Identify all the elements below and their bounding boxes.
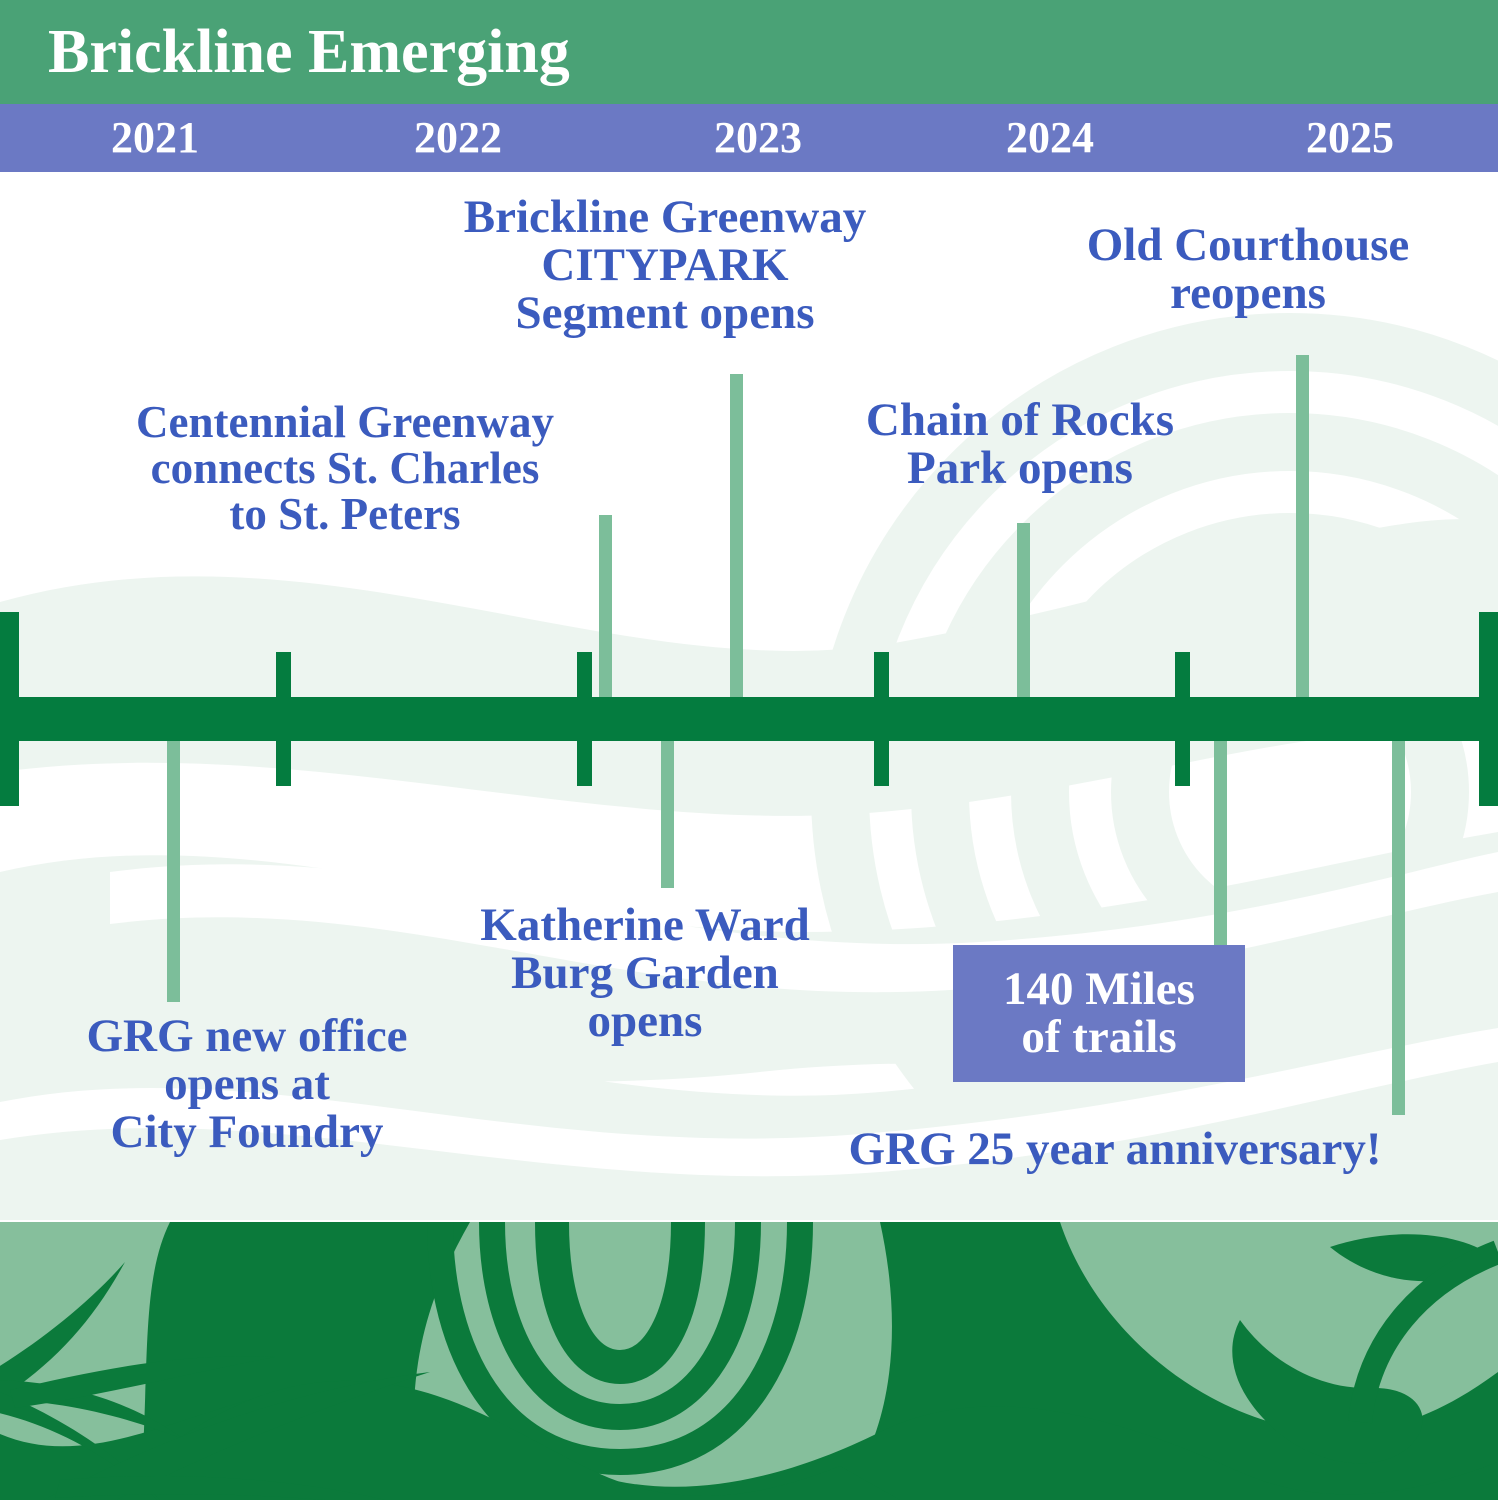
connector-brickline-citypark — [730, 374, 743, 700]
connector-grg-anniversary — [1392, 740, 1405, 1115]
event-line: Katherine Ward — [410, 902, 880, 950]
connector-grg-new-office — [167, 740, 180, 1002]
infographic-canvas: Brickline Emerging 2021 2022 2023 2024 2… — [0, 0, 1498, 1500]
connector-katherine-ward — [661, 740, 674, 888]
timeline-tick-2022 — [577, 652, 592, 786]
year-label-2023: 2023 — [658, 110, 858, 166]
event-line: GRG 25 year anniversary! — [770, 1126, 1460, 1174]
event-line: Segment opens — [370, 290, 960, 338]
timeline-bar — [0, 697, 1498, 741]
bottom-decorative-pattern — [0, 1222, 1498, 1500]
connector-old-courthouse — [1296, 355, 1309, 700]
page-title: Brickline Emerging — [48, 12, 570, 92]
year-label-2024: 2024 — [950, 110, 1150, 166]
event-line: Chain of Rocks — [790, 397, 1250, 445]
year-label-2025: 2025 — [1250, 110, 1450, 166]
event-line: Centennial Greenway — [40, 400, 650, 446]
event-brickline-greenway-citypark: Brickline Greenway CITYPARK Segment open… — [370, 194, 960, 338]
event-line: CITYPARK — [370, 242, 960, 290]
timeline-end-cap-right — [1479, 612, 1498, 806]
badge-line: 140 Miles — [1003, 966, 1195, 1014]
connector-miles-badge — [1214, 740, 1227, 945]
event-line: opens at — [12, 1061, 482, 1109]
event-line: reopens — [1018, 270, 1478, 318]
event-grg-anniversary: GRG 25 year anniversary! — [770, 1126, 1460, 1174]
event-line: Old Courthouse — [1018, 222, 1478, 270]
timeline-tick-2023 — [874, 652, 889, 786]
status-badge-miles-of-trails: 140 Miles of trails — [953, 945, 1245, 1082]
connector-centennial-greenway — [599, 515, 612, 700]
event-chain-of-rocks-park: Chain of Rocks Park opens — [790, 397, 1250, 493]
event-line: connects St. Charles — [40, 446, 650, 492]
event-line: Brickline Greenway — [370, 194, 960, 242]
year-label-2022: 2022 — [358, 110, 558, 166]
event-line: Park opens — [790, 445, 1250, 493]
timeline-tick-2024 — [1175, 652, 1190, 786]
timeline-end-cap-left — [0, 612, 19, 806]
event-line: Burg Garden — [410, 950, 880, 998]
timeline-tick-2021 — [276, 652, 291, 786]
connector-chain-of-rocks — [1017, 523, 1030, 700]
event-line: GRG new office — [12, 1013, 482, 1061]
badge-line: of trails — [1021, 1014, 1176, 1062]
event-centennial-greenway: Centennial Greenway connects St. Charles… — [40, 400, 650, 538]
year-label-2021: 2021 — [55, 110, 255, 166]
event-line: to St. Peters — [40, 492, 650, 538]
event-line: City Foundry — [12, 1109, 482, 1157]
event-old-courthouse: Old Courthouse reopens — [1018, 222, 1478, 318]
event-grg-new-office: GRG new office opens at City Foundry — [12, 1013, 482, 1157]
